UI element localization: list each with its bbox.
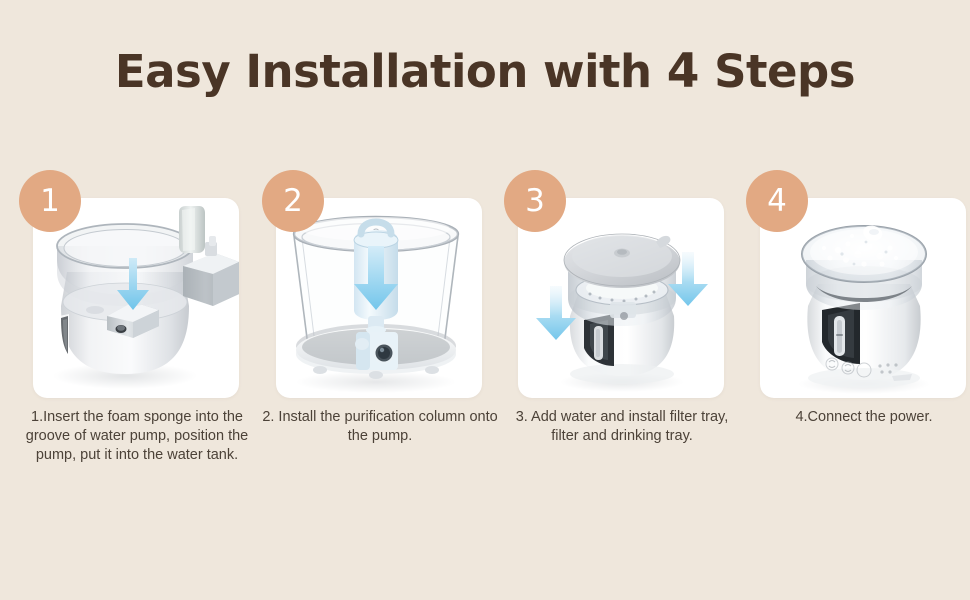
step-4-caption: 4.Connect the power. — [746, 408, 970, 427]
page-title: Easy Installation with 4 Steps — [0, 44, 970, 99]
step-3-caption: 3. Add water and install filter tray, fi… — [504, 408, 740, 446]
step-2-caption: 2. Install the purification column onto … — [262, 408, 498, 446]
page-title-number: 4 — [667, 44, 699, 99]
page-title-part1: Easy Installation with — [115, 45, 667, 98]
step-2-number-badge: 2 — [262, 170, 324, 232]
step-3-number-badge: 3 — [504, 170, 566, 232]
step-1-caption: 1.Insert the foam sponge into the groove… — [19, 408, 255, 465]
step-4-number-badge: 4 — [746, 170, 808, 232]
steps-row: 1 1.Insert the foam sponge into the groo… — [0, 170, 970, 570]
step-1-number-badge: 1 — [19, 170, 81, 232]
installation-steps-page: Easy Installation with 4 Steps — [0, 0, 970, 600]
page-title-part2: Steps — [699, 45, 855, 98]
